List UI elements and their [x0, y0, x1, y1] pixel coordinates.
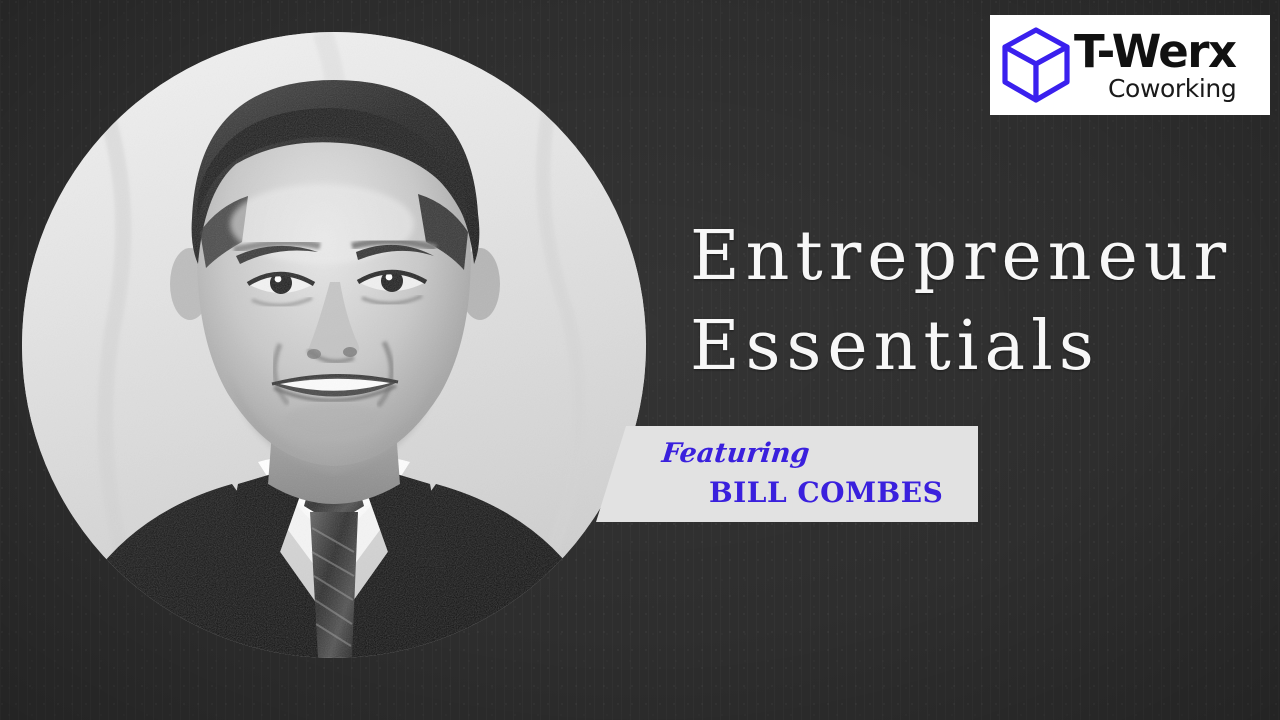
- isometric-cube-icon: [1000, 25, 1072, 105]
- portrait-image: [22, 32, 646, 658]
- presentation-slide: Entrepreneur Essentials Featuring BILL C…: [0, 0, 1280, 720]
- logo-name: T-Werx: [1074, 29, 1236, 74]
- logo-wordmark-group: T-Werx Coworking: [1074, 29, 1236, 101]
- logo-tagline: Coworking: [1108, 76, 1236, 101]
- speaker-name: BILL COMBES: [709, 476, 943, 509]
- featuring-banner: Featuring BILL COMBES: [596, 426, 978, 522]
- title-line-2: Essentials: [690, 302, 1270, 392]
- title-line-1: Entrepreneur: [690, 212, 1270, 302]
- speaker-portrait: [22, 32, 646, 658]
- featuring-label: Featuring: [660, 438, 811, 469]
- slide-title: Entrepreneur Essentials: [690, 212, 1270, 392]
- brand-logo[interactable]: T-Werx Coworking: [990, 15, 1270, 115]
